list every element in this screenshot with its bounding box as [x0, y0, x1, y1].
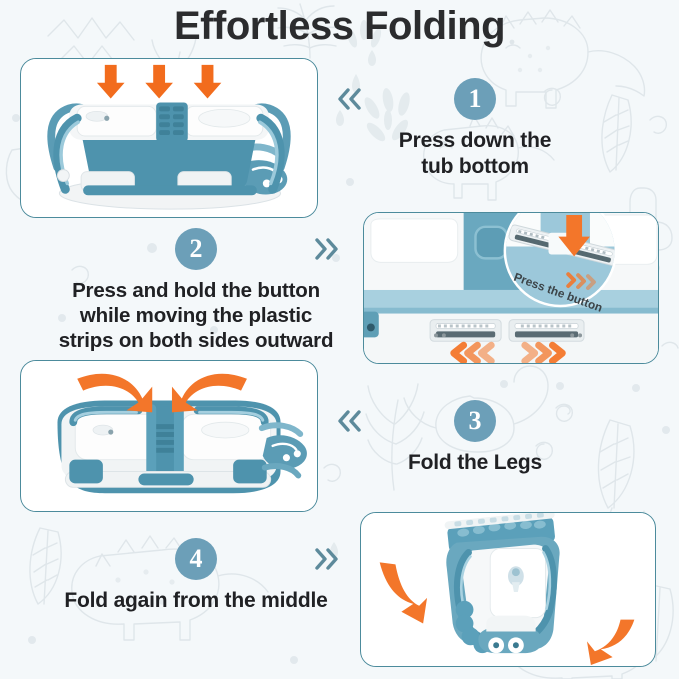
step-badge-4: 4: [175, 538, 217, 580]
step-1-line-1: Press down the: [330, 128, 620, 154]
step-4: 4 Fold again from the middle: [46, 538, 346, 614]
step-1: 1 Press down the tub bottom: [330, 78, 620, 179]
chevron-left-icon: [330, 82, 368, 116]
step-3-line-1: Fold the Legs: [330, 450, 620, 476]
step-1-header: 1: [330, 78, 620, 122]
step-1-text: Press down the tub bottom: [330, 128, 620, 179]
step-4-text: Fold again from the middle: [46, 588, 346, 614]
step-3: 3 Fold the Legs: [330, 400, 620, 476]
step-3-header: 3: [330, 400, 620, 444]
step-4-header: 4: [46, 538, 346, 582]
step-3-text: Fold the Legs: [330, 450, 620, 476]
step-2-text: Press and hold the button while moving t…: [46, 278, 346, 353]
product-image-panel-step-2: Press the button: [363, 212, 659, 364]
step-2-line-3: strips on both sides outward: [46, 328, 346, 353]
step-2-line-1: Press and hold the button: [46, 278, 346, 303]
step-badge-2: 2: [175, 228, 217, 270]
product-image-panel-step-3: [20, 360, 318, 512]
chevron-right-icon: [308, 542, 346, 576]
step-1-line-2: tub bottom: [330, 154, 620, 180]
step-2-header: 2: [46, 228, 346, 272]
step-2: 2 Press and hold the button while moving…: [46, 228, 346, 353]
step-4-line-1: Fold again from the middle: [46, 588, 346, 614]
step-badge-3: 3: [454, 400, 496, 442]
infographic-root: Effortless Folding: [0, 0, 679, 679]
chevron-left-icon: [330, 404, 368, 438]
step-badge-1: 1: [454, 78, 496, 120]
step-2-line-2: while moving the plastic: [46, 303, 346, 328]
page-title: Effortless Folding: [0, 4, 679, 49]
product-image-panel-step-1: [20, 58, 318, 218]
chevron-right-icon: [308, 232, 346, 266]
product-image-panel-step-4: [360, 512, 656, 667]
